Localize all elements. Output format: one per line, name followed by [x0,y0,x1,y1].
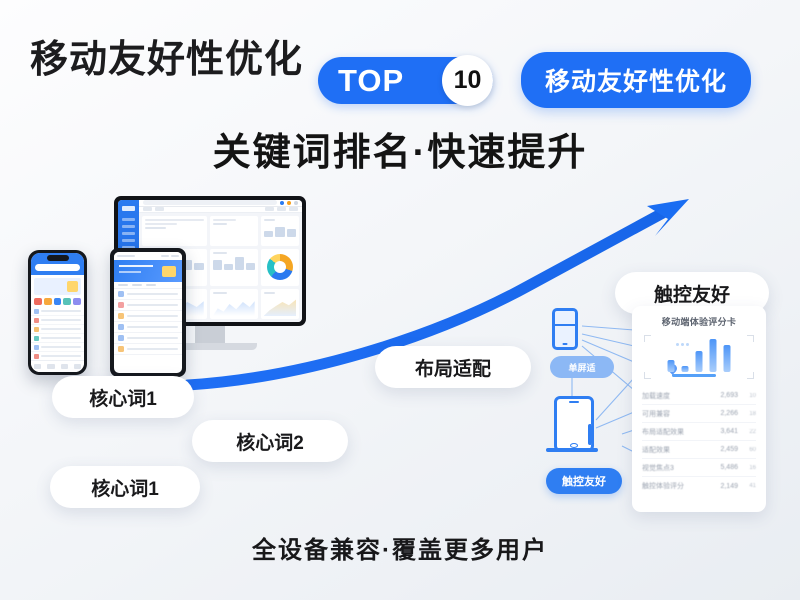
score-row-name: 布局适配效果 [642,427,712,437]
score-bar [724,345,731,372]
top-badge-number: 10 [442,55,493,106]
score-card-title: 移动端体验评分卡 [642,315,756,328]
score-row-value: 2,149 [712,483,738,490]
donut-chart [267,254,293,280]
top-badge-word: TOP [318,63,404,99]
laptop-icon [588,426,622,450]
score-row-name: 适配效果 [642,445,712,455]
score-row-value: 5,486 [712,464,738,471]
score-row-value: 3,641 [712,428,738,435]
score-table-row: 加载速度2,69310 [642,387,756,405]
score-bar [710,339,717,372]
score-card-chart [642,335,756,379]
score-bar [696,351,703,372]
keyword-pill[interactable]: 核心词2 [192,420,348,462]
score-row-value: 2,459 [712,446,738,453]
page-title: 移动友好性优化 [30,28,303,83]
keyword-pill[interactable]: 核心词1 [50,466,200,508]
score-row-value: 2,266 [712,410,738,417]
keyword-pill[interactable]: 核心词1 [52,376,194,418]
score-row-name: 视觉焦点3 [642,463,712,473]
score-table-row: 触控体验评分2,14941 [642,477,756,495]
score-bar [682,366,689,372]
score-card: 移动端体验评分卡 加载速度2,69310可用兼容2,26618布局适配效果3,6… [632,306,766,512]
tablet-icon [110,248,186,377]
layout-adaptation-pill[interactable]: 布局适配 [375,346,531,388]
smartphone-icon [28,250,87,375]
score-row-delta: 16 [738,465,756,471]
score-row-delta: 18 [738,411,756,417]
score-table-row: 布局适配效果3,64122 [642,423,756,441]
score-row-delta: 10 [738,393,756,399]
footer-tagline: 全设备兼容·覆盖更多用户 [0,530,800,565]
score-bar [668,360,675,372]
score-table-row: 适配效果2,45960 [642,441,756,459]
device-stand-bar [546,448,598,452]
score-row-value: 2,693 [712,392,738,399]
device-mockup-group [28,196,338,391]
score-row-name: 可用兼容 [642,409,712,419]
page-subtitle: 关键词排名·快速提升 [0,121,800,176]
mobile-experience-panel: 单屏适 触控友好 移动端体验评分卡 加载速度2,69310可用兼容2,26618… [542,300,768,515]
top-rank-badge: TOP 10 [318,57,493,104]
score-table-row: 可用兼容2,26618 [642,405,756,423]
poster-canvas: 移动友好性优化 TOP 10 移动友好性优化 关键词排名·快速提升 [0,0,800,600]
panel-soft-pill[interactable]: 单屏适 [550,356,614,378]
panel-touch-friendly-pill[interactable]: 触控友好 [546,468,622,494]
score-table-row: 视觉焦点35,48616 [642,459,756,477]
score-row-delta: 60 [738,447,756,453]
header-tag-pill: 移动友好性优化 [521,52,751,108]
score-table: 加载速度2,69310可用兼容2,26618布局适配效果3,64122适配效果2… [642,387,756,495]
score-row-name: 触控体验评分 [642,481,712,491]
score-row-name: 加载速度 [642,391,712,401]
smartphone-outline-icon [552,308,578,350]
score-row-delta: 22 [738,429,756,435]
score-row-delta: 41 [738,483,756,489]
